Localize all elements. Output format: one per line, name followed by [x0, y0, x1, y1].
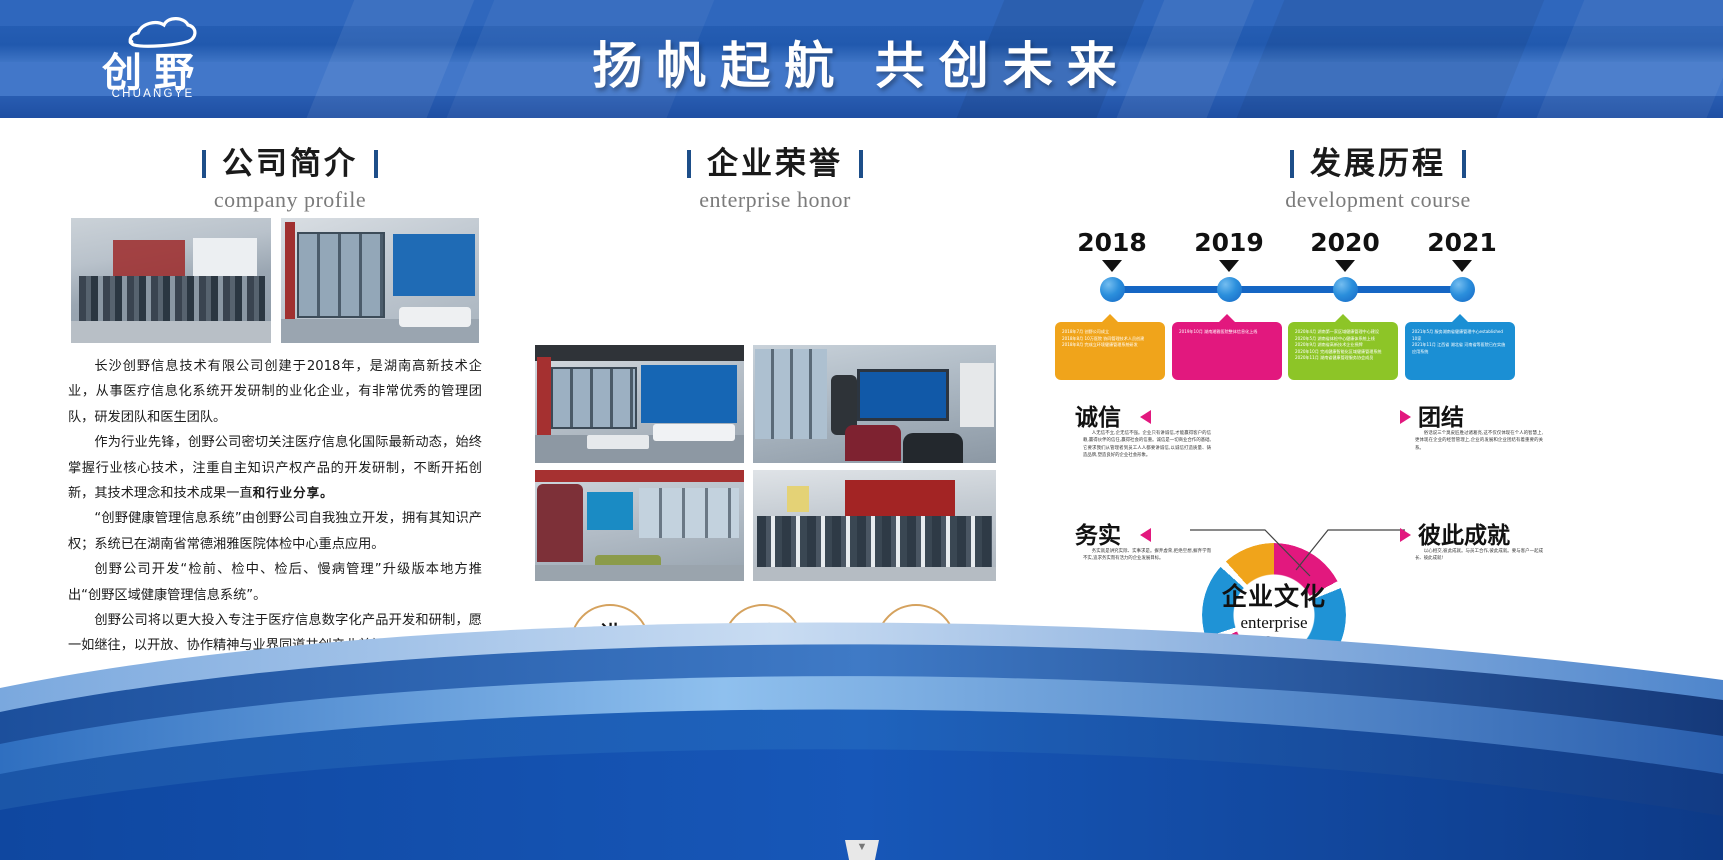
profile-paragraph-3: “创野健康管理信息系统”由创野公司自我独立开发，拥有其知识产权；系统已在湖南省常…	[68, 506, 482, 557]
section-title-honor-en: enterprise honor	[555, 187, 995, 213]
section-heading-development: 发展历程 development course	[1158, 138, 1598, 213]
timeline-year-2019: 2019	[1184, 228, 1274, 257]
card-notch	[1218, 314, 1236, 323]
timeline-node-1[interactable]	[1100, 277, 1125, 302]
timeline-node-2[interactable]	[1217, 277, 1242, 302]
culture-item-title-mutual: 彼此成就	[1418, 516, 1510, 550]
timeline-card-2018[interactable]: 2018年7月 创野公司成立 2018年8月 10万医院 协同管理技术人员创建 …	[1055, 322, 1165, 380]
timeline-axis	[1110, 286, 1464, 293]
profile-paragraph-1: 长沙创野信息技术有限公司创建于2018年，是湖南高新技术企业，从事医疗信息化系统…	[68, 354, 482, 430]
card-notch	[1101, 314, 1119, 323]
honor-photo-reception	[535, 345, 744, 463]
section-heading-profile: 公司简介 company profile	[60, 138, 520, 213]
culture-arrow-pragmatic	[1140, 528, 1151, 542]
timeline-pointer-1	[1102, 260, 1122, 272]
section-title-dev-en: development course	[1158, 187, 1598, 213]
card-text: 2021年5月 服务湖南省健康管理中心established 10家 2021年…	[1412, 329, 1509, 355]
scroll-down-chevron[interactable]: ▼	[845, 840, 879, 860]
culture-item-title-unity: 团结	[1418, 398, 1464, 432]
culture-item-title-pragmatic: 务实	[1075, 516, 1121, 550]
timeline-node-3[interactable]	[1333, 277, 1358, 302]
honor-photo-presentation	[753, 345, 996, 463]
timeline-pointer-3	[1335, 260, 1355, 272]
profile-photo-lobby	[281, 218, 479, 343]
timeline-pointer-4	[1452, 260, 1472, 272]
poster-canvas: 创野 CHUANGYE 扬帆起航 共创未来 公司简介 company profi…	[0, 0, 1723, 860]
section-title-dev-cn: 发展历程	[1158, 138, 1598, 183]
timeline-pointer-2	[1219, 260, 1239, 272]
section-title-profile-en: company profile	[60, 187, 520, 213]
poster-main-title: 扬帆起航 共创未来	[0, 26, 1723, 98]
card-text: 2019年10月 湖南湘雅医院整体信息化上线	[1179, 329, 1276, 336]
poster-header: 创野 CHUANGYE 扬帆起航 共创未来	[0, 0, 1723, 118]
chevron-icon: ▼	[845, 841, 879, 853]
timeline-year-2018: 2018	[1067, 228, 1157, 257]
title-bar-left	[687, 150, 691, 178]
culture-arrow-mutual	[1400, 528, 1411, 542]
culture-arrow-unity	[1400, 410, 1411, 424]
profile-paragraph-2: 作为行业先锋，创野公司密切关注医疗信息化国际最新动态，始终掌握行业核心技术，注重…	[68, 430, 482, 506]
title-bar-left	[202, 150, 206, 178]
card-text: 2020年4月 湖南第一家区域健康管理中心建设 2020年5月 湖南省体检中心健…	[1295, 329, 1392, 362]
title-bar-left	[1290, 150, 1294, 178]
timeline-year-2020: 2020	[1300, 228, 1390, 257]
timeline-node-4[interactable]	[1450, 277, 1475, 302]
title-bar-right	[374, 150, 378, 178]
culture-item-body-unity: 俗话说三个臭皮匠胜过诸葛亮,这不仅仅体现在个人的智慧上,更体现在企业的经营管理上…	[1415, 430, 1543, 452]
card-text: 2018年7月 创野公司成立 2018年8月 10万医院 协同管理技术人员创建 …	[1062, 329, 1159, 349]
profile-photo-team	[71, 218, 271, 343]
timeline-card-2021[interactable]: 2021年5月 服务湖南省健康管理中心established 10家 2021年…	[1405, 322, 1515, 380]
timeline-card-2020[interactable]: 2020年4月 湖南第一家区域健康管理中心建设 2020年5月 湖南省体检中心健…	[1288, 322, 1398, 380]
card-notch	[1334, 314, 1352, 323]
section-heading-honor: 企业荣誉 enterprise honor	[555, 138, 995, 213]
timeline-card-2019[interactable]: 2019年10月 湖南湘雅医院整体信息化上线	[1172, 322, 1282, 380]
timeline-year-2021: 2021	[1417, 228, 1507, 257]
profile-highlight: 和行业分享。	[253, 486, 334, 500]
footer-wave-decoration	[0, 560, 1723, 860]
section-title-profile-cn: 公司简介	[60, 138, 520, 183]
culture-item-title-integrity: 诚信	[1075, 398, 1121, 432]
culture-item-body-integrity: 人无信不立,企无信不强。企业只有讲诚信,才能赢得客户的信赖,赢得伙伴的信任,赢得…	[1083, 430, 1211, 460]
title-bar-right	[859, 150, 863, 178]
card-notch	[1451, 314, 1469, 323]
title-bar-right	[1462, 150, 1466, 178]
culture-arrow-integrity	[1140, 410, 1151, 424]
section-title-honor-cn: 企业荣誉	[555, 138, 995, 183]
